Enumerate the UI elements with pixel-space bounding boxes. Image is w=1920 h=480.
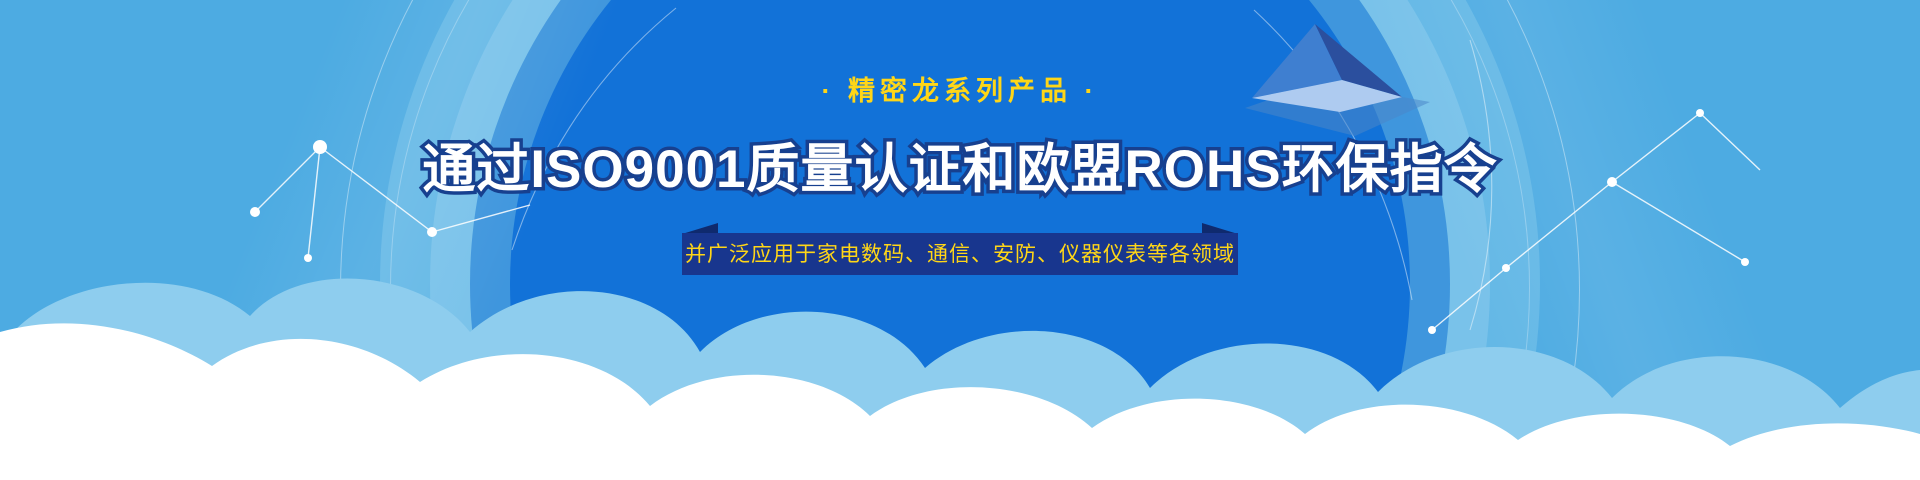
subtitle-text: 并广泛应用于家电数码、通信、安防、仪器仪表等各领域 [685, 244, 1235, 265]
promo-banner: · 精密龙系列产品 · 通过ISO9001质量认证和欧盟ROHS环保指令 并广泛… [0, 0, 1920, 480]
headline-text: 通过ISO9001质量认证和欧盟ROHS环保指令 [0, 137, 1920, 203]
banner-content: · 精密龙系列产品 · 通过ISO9001质量认证和欧盟ROHS环保指令 并广泛… [0, 0, 1920, 289]
eyebrow-text: · 精密龙系列产品 · [0, 78, 1920, 105]
subtitle-ribbon-row: 并广泛应用于家电数码、通信、安防、仪器仪表等各领域 [0, 233, 1920, 289]
headline-wrapper: 通过ISO9001质量认证和欧盟ROHS环保指令 [0, 137, 1920, 203]
subtitle-ribbon: 并广泛应用于家电数码、通信、安防、仪器仪表等各领域 [682, 233, 1238, 275]
